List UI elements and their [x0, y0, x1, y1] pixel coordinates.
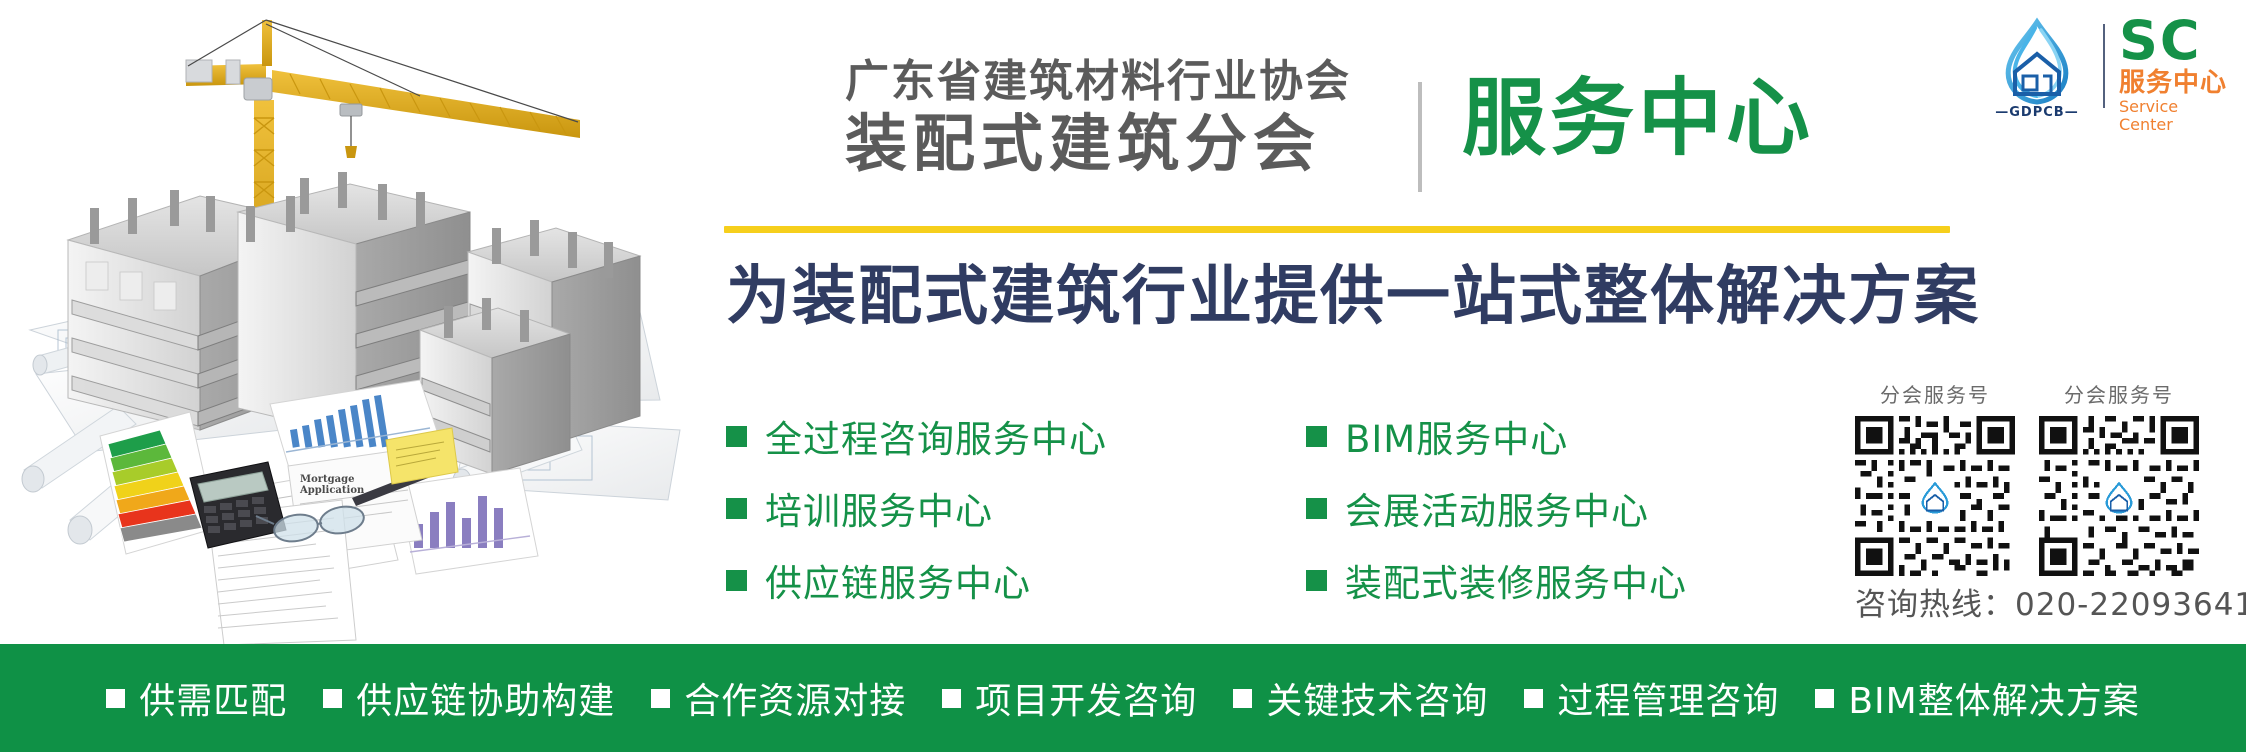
square-bullet-icon — [651, 689, 670, 708]
page-title: 为装配式建筑行业提供一站式整体解决方案 — [726, 256, 1980, 338]
capability-label: 过程管理咨询 — [1557, 672, 1779, 724]
bar-chart-sheet-purple — [398, 468, 538, 574]
qr-contact-block: 分会服务号 — [1855, 382, 2225, 624]
qr-row: 分会服务号 — [1855, 382, 2225, 576]
square-bullet-icon — [726, 570, 747, 591]
list-item[interactable]: BIM整体解决方案 — [1815, 672, 2139, 724]
service-label: 培训服务中心 — [765, 481, 993, 535]
qr-code-image-right[interactable] — [2039, 416, 2199, 576]
square-bullet-icon — [1306, 570, 1327, 591]
organization-title: 广东省建筑材料行业协会 装配式建筑分会 — [845, 55, 1365, 179]
capability-label: 供需匹配 — [139, 672, 287, 724]
gdpcb-logo-icon: —GDPCB— — [1985, 14, 2089, 118]
gold-divider-rule — [724, 226, 1950, 233]
service-center-list: 全过程咨询服务中心 培训服务中心 供应链服务中心 BIM服务中心 会展活动服务中… — [726, 400, 1806, 616]
service-label: 全过程咨询服务中心 — [765, 409, 1107, 463]
org-name-line1: 广东省建筑材料行业协会 — [845, 55, 1365, 109]
service-column-left: 全过程咨询服务中心 培训服务中心 供应链服务中心 — [726, 400, 1306, 616]
hotline-text: 咨询热线：020-22093641 — [1855, 586, 2225, 624]
square-bullet-icon — [1306, 426, 1327, 447]
list-item[interactable]: 培训服务中心 — [726, 472, 1306, 544]
list-item[interactable]: 过程管理咨询 — [1524, 672, 1779, 724]
square-bullet-icon — [726, 498, 747, 519]
logo-divider — [2103, 24, 2105, 108]
promo-banner: Mortgage Application — [0, 0, 2246, 752]
square-bullet-icon — [942, 689, 961, 708]
list-item[interactable]: 供需匹配 — [106, 672, 287, 724]
svg-text:Application: Application — [299, 485, 365, 496]
list-item[interactable]: 项目开发咨询 — [942, 672, 1197, 724]
capability-label: 供应链协助构建 — [356, 672, 615, 724]
qr-code-image-left[interactable] — [1855, 416, 2015, 576]
list-item[interactable]: 供应链协助构建 — [323, 672, 615, 724]
service-column-right: BIM服务中心 会展活动服务中心 装配式装修服务中心 — [1306, 400, 1806, 616]
square-bullet-icon — [726, 426, 747, 447]
list-item[interactable]: BIM服务中心 — [1306, 400, 1806, 472]
square-bullet-icon — [323, 689, 342, 708]
square-bullet-icon — [1524, 689, 1543, 708]
qr-caption: 分会服务号 — [1855, 382, 2015, 408]
construction-illustration: Mortgage Application — [0, 0, 690, 645]
sc-english-label: Service Center — [2119, 98, 2231, 134]
service-label: 装配式装修服务中心 — [1345, 553, 1687, 607]
svg-text:Mortgage: Mortgage — [300, 474, 354, 485]
service-label: BIM服务中心 — [1345, 409, 1568, 463]
square-bullet-icon — [1306, 498, 1327, 519]
service-label: 供应链服务中心 — [765, 553, 1031, 607]
list-item[interactable]: 关键技术咨询 — [1233, 672, 1488, 724]
gdpcb-wordmark: —GDPCB— — [1985, 105, 2089, 120]
qr-caption: 分会服务号 — [2039, 382, 2199, 408]
square-bullet-icon — [1233, 689, 1252, 708]
sc-logo: SC 服务中心 Service Center — [2119, 14, 2231, 118]
square-bullet-icon — [1815, 689, 1834, 708]
bottom-items: 供需匹配 供应链协助构建 合作资源对接 项目开发咨询 关键技术咨询 过程管理咨询 — [88, 672, 2157, 724]
sc-letters: SC — [2119, 14, 2231, 68]
capability-label: 合作资源对接 — [684, 672, 906, 724]
list-item[interactable]: 全过程咨询服务中心 — [726, 400, 1306, 472]
logo-lockup: —GDPCB— SC 服务中心 Service Center — [1985, 14, 2235, 118]
list-item[interactable]: 会展活动服务中心 — [1306, 472, 1806, 544]
list-item[interactable]: 合作资源对接 — [651, 672, 906, 724]
list-item[interactable]: 供应链服务中心 — [726, 544, 1306, 616]
service-center-heading: 服务中心 — [1462, 72, 1814, 164]
qr-cell-right: 分会服务号 — [2039, 382, 2199, 576]
service-label: 会展活动服务中心 — [1345, 481, 1649, 535]
capability-label: 关键技术咨询 — [1266, 672, 1488, 724]
capability-label: 项目开发咨询 — [975, 672, 1197, 724]
bottom-capability-bar: 供需匹配 供应链协助构建 合作资源对接 项目开发咨询 关键技术咨询 过程管理咨询 — [0, 644, 2246, 752]
list-item[interactable]: 装配式装修服务中心 — [1306, 544, 1806, 616]
header-divider — [1418, 82, 1422, 192]
capability-label: BIM整体解决方案 — [1848, 672, 2139, 724]
sc-chinese-label: 服务中心 — [2119, 68, 2231, 98]
square-bullet-icon — [106, 689, 125, 708]
org-name-line2: 装配式建筑分会 — [845, 109, 1365, 179]
qr-cell-left: 分会服务号 — [1855, 382, 2015, 576]
